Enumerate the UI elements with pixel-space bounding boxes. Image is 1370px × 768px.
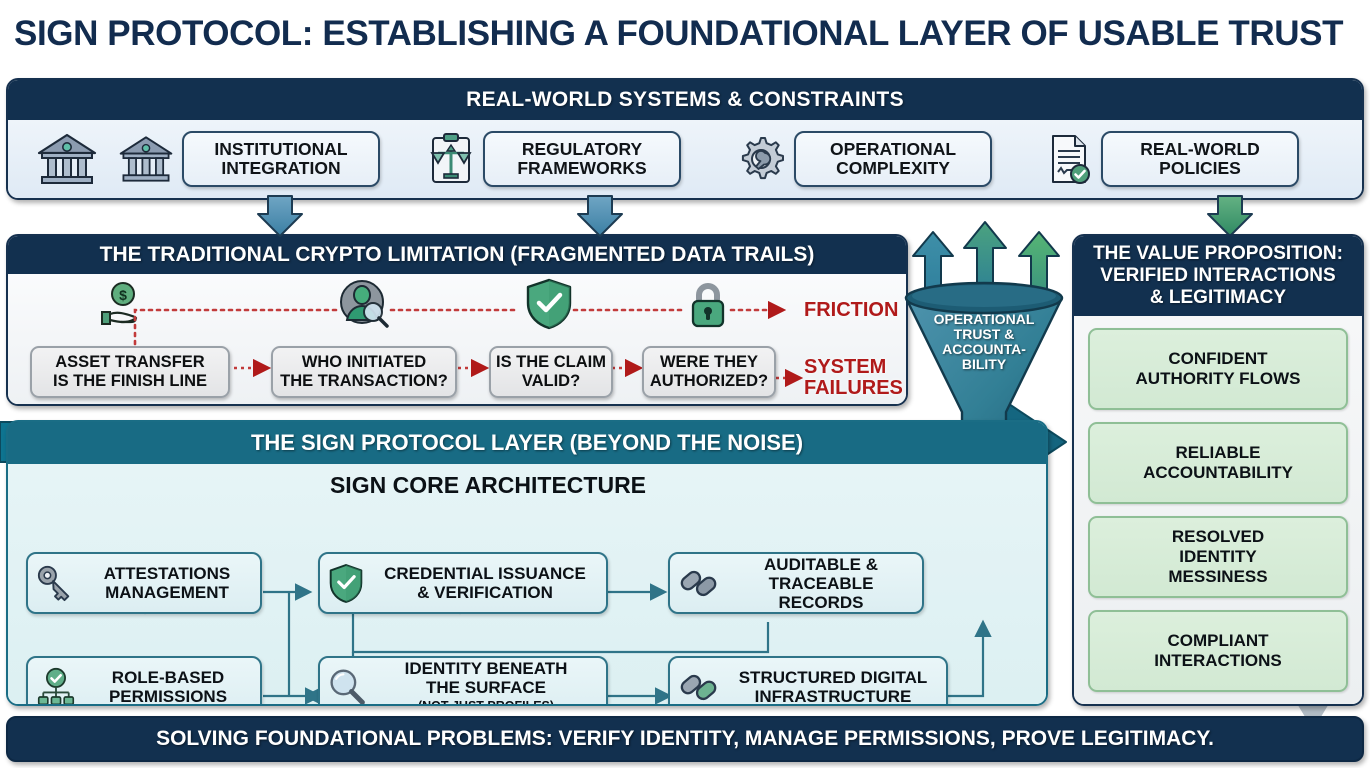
core-line2: THE SURFACE [426,678,546,697]
valueprop-item-reliable-accountability[interactable]: RELIABLE ACCOUNTABILITY [1088,422,1348,504]
constraint-box-regulatory[interactable]: REGULATORY FRAMEWORKS [483,131,681,187]
scales-clipboard-icon [427,132,475,186]
funnel-up-arrow-2 [964,222,1006,300]
down-arrow-policies [1208,196,1252,236]
box-line2: AUTHORIZED? [650,372,768,390]
limitation-outcome-friction: FRICTION [804,300,898,321]
core-box-auditable-records[interactable]: AUDITABLE & TRACEABLE RECORDS [668,552,924,614]
limitation-header-tail: (FRAGMENTED DATA TRAILS) [510,243,814,266]
core-box-role-based-permissions[interactable]: ROLE-BASED PERMISSIONS [26,656,262,706]
signlayer-body: SIGN CORE ARCHITECTURE [8,464,1046,704]
box-line1: IS THE CLAIM [496,353,606,371]
limitation-outcome-system-failures: SYSTEM FAILURES [804,357,903,399]
vp-line1: COMPLIANT [1167,631,1268,650]
link-chain-icon [678,668,720,706]
sign-protocol-layer-panel: THE SIGN PROTOCOL LAYER (BEYOND THE NOIS… [6,420,1048,706]
valueprop-header-line2: VERIFIED INTERACTIONS [1100,265,1335,287]
limitation-body: $ [8,274,906,404]
constraint-real-world-policies[interactable]: REAL-WORLD POLICIES [1045,131,1348,187]
core-line1: ATTESTATIONS [104,564,231,583]
core-line2: INFRASTRUCTURE [755,687,912,706]
shield-check-icon [328,563,364,603]
bank-icon [118,133,174,185]
constraint-line1: REGULATORY [522,139,642,159]
core-line1: ROLE-BASED [112,668,224,687]
core-line1: IDENTITY BENEATH [405,659,568,678]
link-chain-icon [678,564,720,602]
funnel-up-arrow-1 [913,232,953,300]
limitation-header-lead: THE TRADITIONAL CRYPTO LIMITATION [100,243,511,266]
infographic-root: SIGN PROTOCOL: ESTABLISHING A FOUNDATION… [0,0,1370,768]
core-box-label: IDENTITY BENEATH THE SURFACE (NOT JUST P… [374,659,598,707]
limitation-box-were-authorized[interactable]: WERE THEY AUTHORIZED? [642,346,776,398]
valueprop-item-resolved-identity-messiness[interactable]: RESOLVED IDENTITY MESSINESS [1088,516,1348,598]
bank-icon [36,131,98,187]
constraint-regulatory-frameworks[interactable]: REGULATORY FRAMEWORKS [427,131,730,187]
value-proposition-panel: THE VALUE PROPOSITION: VERIFIED INTERACT… [1072,234,1364,706]
constraint-box-operational[interactable]: OPERATIONAL COMPLEXITY [794,131,992,187]
valueprop-header-line1: THE VALUE PROPOSITION: [1093,243,1343,265]
constraint-institutional-integration[interactable]: INSTITUTIONAL INTEGRATION [118,131,421,187]
down-arrow-regulatory [578,196,622,236]
limitation-box-claim-valid[interactable]: IS THE CLAIM VALID? [489,346,613,398]
constraint-line2: COMPLEXITY [836,158,950,178]
core-line2: & VERIFICATION [417,583,553,602]
user-search-icon [335,278,391,330]
box-line1: ASSET TRANSFER [55,353,204,371]
vp-line2: IDENTITY [1179,547,1256,566]
funnel-line-3: ACCOUNTA- [942,341,1026,357]
funnel-up-arrow-3 [1019,232,1059,300]
hand-holding-coin-icon: $ [96,280,150,330]
core-line1: AUDITABLE & [764,555,878,574]
core-line2: TRACEABLE RECORDS [769,574,874,612]
signlayer-header: THE SIGN PROTOCOL LAYER (BEYOND THE NOIS… [8,422,1046,464]
funnel-line-2: TRUST & [954,326,1015,342]
core-box-label: ROLE-BASED PERMISSIONS [84,668,252,706]
down-arrow-institutional [258,196,302,236]
core-box-structured-infrastructure[interactable]: STRUCTURED DIGITAL INFRASTRUCTURE [668,656,948,706]
funnel-line-1: OPERATIONAL [934,311,1035,327]
outcome-line2: FAILURES [804,377,903,399]
core-box-label: ATTESTATIONS MANAGEMENT [82,564,252,602]
magnifier-icon [328,668,366,706]
box-line2: IS THE FINISH LINE [53,372,207,390]
funnel-line-4: BILITY [962,356,1006,372]
limitation-header: THE TRADITIONAL CRYPTO LIMITATION (FRAGM… [8,236,906,274]
vp-line3: MESSINESS [1168,567,1267,586]
bank-icon-cell [22,131,112,187]
constraint-box-policies[interactable]: REAL-WORLD POLICIES [1101,131,1299,187]
traditional-crypto-limitation-panel: THE TRADITIONAL CRYPTO LIMITATION (FRAGM… [6,234,908,406]
box-line1: WERE THEY [660,353,758,371]
vp-line1: RELIABLE [1176,443,1261,462]
constraint-line2: POLICIES [1159,158,1241,178]
box-line2: THE TRANSACTION? [280,372,448,390]
constraint-line1: REAL-WORLD [1140,139,1260,159]
constraint-line1: INSTITUTIONAL [214,139,347,159]
vp-line2: INTERACTIONS [1154,651,1282,670]
valueprop-header-line3: & LEGITIMACY [1150,287,1286,309]
core-box-label: STRUCTURED DIGITAL INFRASTRUCTURE [728,668,938,706]
core-line1: CREDENTIAL ISSUANCE [384,564,586,583]
org-check-icon [36,667,76,706]
core-sub: (NOT JUST PROFILES) [374,697,598,707]
core-box-credential-issuance[interactable]: CREDENTIAL ISSUANCE & VERIFICATION [318,552,608,614]
box-line2: VALID? [522,372,580,390]
valueprop-header: THE VALUE PROPOSITION: VERIFIED INTERACT… [1074,236,1362,316]
valueprop-body: CONFIDENT AUTHORITY FLOWS RELIABLE ACCOU… [1074,316,1362,704]
footer-text: SOLVING FOUNDATIONAL PROBLEMS: VERIFY ID… [156,727,1214,751]
core-line2: PERMISSIONS [109,687,227,706]
footer-banner: SOLVING FOUNDATIONAL PROBLEMS: VERIFY ID… [6,716,1364,762]
valueprop-item-compliant-interactions[interactable]: COMPLIANT INTERACTIONS [1088,610,1348,692]
svg-text:$: $ [119,287,127,303]
core-line1: STRUCTURED DIGITAL [739,668,928,687]
constraints-header: REAL-WORLD SYSTEMS & CONSTRAINTS [8,80,1362,120]
constraint-line1: OPERATIONAL [830,139,956,159]
box-line1: WHO INITIATED [302,353,426,371]
core-box-attestations-management[interactable]: ATTESTATIONS MANAGEMENT [26,552,262,614]
vp-line1: RESOLVED [1172,527,1264,546]
constraint-line2: INTEGRATION [221,158,340,178]
constraint-box-institutional[interactable]: INSTITUTIONAL INTEGRATION [182,131,380,187]
valueprop-item-confident-authority-flows[interactable]: CONFIDENT AUTHORITY FLOWS [1088,328,1348,410]
vp-line2: AUTHORITY FLOWS [1136,369,1301,388]
key-icon [36,564,74,602]
core-box-label: CREDENTIAL ISSUANCE & VERIFICATION [372,564,598,602]
constraints-body: INSTITUTIONAL INTEGRATION REGULATORY [8,120,1362,198]
core-line2: MANAGEMENT [105,583,229,602]
shield-check-icon [525,278,573,330]
lock-icon [686,280,730,330]
core-box-label: AUDITABLE & TRACEABLE RECORDS [728,555,914,612]
limitation-box-who-initiated[interactable]: WHO INITIATED THE TRANSACTION? [271,346,457,398]
vp-line2: ACCOUNTABILITY [1143,463,1293,482]
vp-line1: CONFIDENT [1168,349,1267,368]
core-box-identity-beneath-surface[interactable]: IDENTITY BENEATH THE SURFACE (NOT JUST P… [318,656,608,706]
policy-document-check-icon [1045,132,1093,186]
constraint-operational-complexity[interactable]: OPERATIONAL COMPLEXITY [736,131,1039,187]
gear-wrench-icon [736,134,786,184]
funnel-label: OPERATIONAL TRUST & ACCOUNTA- BILITY [920,312,1048,372]
page-title: SIGN PROTOCOL: ESTABLISHING A FOUNDATION… [14,14,1362,54]
constraint-line2: FRAMEWORKS [517,158,646,178]
sign-core-architecture-title: SIGN CORE ARCHITECTURE [8,472,968,499]
outcome-line1: SYSTEM [804,356,886,378]
real-world-constraints-panel: REAL-WORLD SYSTEMS & CONSTRAINTS [6,78,1364,200]
limitation-box-asset-transfer[interactable]: ASSET TRANSFER IS THE FINISH LINE [30,346,230,398]
